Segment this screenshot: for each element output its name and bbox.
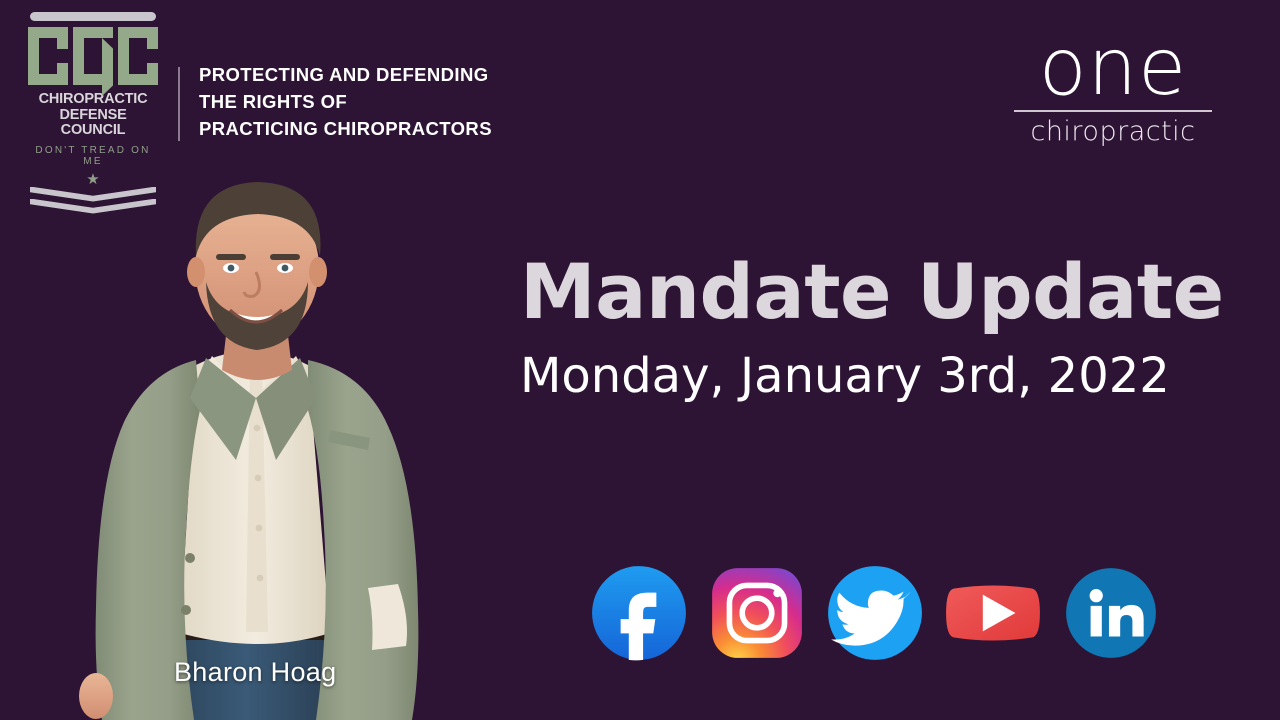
- twitter-icon[interactable]: [824, 562, 926, 664]
- shirt-button: [254, 425, 261, 432]
- cdc-chevron-group: ★: [28, 173, 158, 213]
- one-chiropractic-logo: one chiropractic: [1008, 30, 1218, 146]
- speaker-ear-right: [309, 257, 327, 287]
- speaker-brow-left: [216, 254, 246, 260]
- one-logo-wordmark: one: [1008, 30, 1218, 106]
- cdc-logo-topbar: [30, 12, 156, 21]
- speaker-brow-right: [270, 254, 300, 260]
- brand-tagline: PROTECTING AND DEFENDING THE RIGHTS OF P…: [199, 61, 492, 142]
- header-divider: [178, 67, 180, 141]
- linkedin-icon[interactable]: [1060, 562, 1162, 664]
- speaker-ear-left: [187, 257, 205, 287]
- title-block: Mandate Update Monday, January 3rd, 2022: [520, 250, 1220, 404]
- brand-tagline-line1: PROTECTING AND DEFENDING: [199, 61, 492, 88]
- jacket-button: [181, 605, 191, 615]
- page-subtitle-date: Monday, January 3rd, 2022: [520, 348, 1220, 404]
- jacket-button: [185, 553, 195, 563]
- cdc-org-name-line1: CHIROPRACTIC: [28, 92, 158, 108]
- shirt-button: [257, 575, 264, 582]
- speaker-photo: [0, 160, 500, 720]
- cdc-letter-c2: [118, 27, 158, 85]
- facebook-icon[interactable]: [588, 562, 690, 664]
- cdc-letter-d: [73, 27, 113, 85]
- cdc-logo: CHIROPRACTIC DEFENSE COUNCIL DON'T TREAD…: [28, 12, 158, 213]
- social-links-row: [588, 562, 1162, 664]
- cdc-motto: DON'T TREAD ON ME: [28, 145, 158, 167]
- one-logo-subword: chiropractic: [1008, 118, 1218, 146]
- chevron-icon-upper: [30, 187, 156, 202]
- presentation-slide: CHIROPRACTIC DEFENSE COUNCIL DON'T TREAD…: [0, 0, 1280, 720]
- speaker-name-caption: Bharon Hoag: [174, 657, 336, 688]
- speaker-left-hand: [79, 673, 113, 719]
- speaker-right-cuff: [368, 584, 407, 650]
- cdc-org-name-line2: DEFENSE COUNCIL: [28, 108, 158, 139]
- cdc-org-name: CHIROPRACTIC DEFENSE COUNCIL: [28, 92, 158, 139]
- instagram-icon[interactable]: [706, 562, 808, 664]
- brand-tagline-line3: PRACTICING CHIROPRACTORS: [199, 115, 492, 142]
- page-title: Mandate Update: [520, 250, 1220, 334]
- cdc-letter-c1: [28, 27, 68, 85]
- brand-tagline-line2: THE RIGHTS OF: [199, 88, 492, 115]
- shirt-button: [256, 525, 263, 532]
- youtube-icon[interactable]: [942, 562, 1044, 664]
- shirt-button: [255, 475, 262, 482]
- cdc-logo-monogram: [28, 27, 158, 85]
- star-icon: ★: [86, 172, 99, 187]
